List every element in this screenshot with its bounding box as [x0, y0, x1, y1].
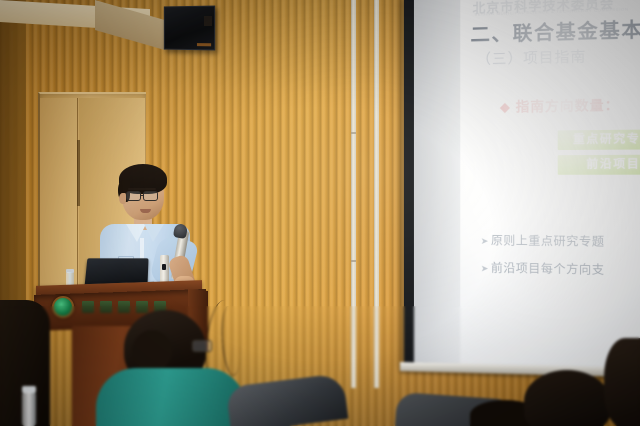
audience-member-teal: [96, 368, 246, 426]
slide-green-box: 前沿项目: [558, 155, 640, 175]
presenter-ear: [119, 193, 126, 204]
arrow-bullet-icon: ➤: [481, 263, 489, 273]
door-seam: [77, 140, 80, 206]
audience-hair-bun: [132, 330, 172, 372]
glasses-icon: [143, 191, 158, 201]
speaker-bracket: [204, 16, 212, 26]
slide-bullet-line: ➤前沿项目每个方向支: [481, 259, 605, 278]
inscription-glyph: [100, 301, 112, 313]
slide-bullet-text: 原则上重点研究专题: [491, 235, 605, 249]
conduit-joint: [351, 132, 356, 134]
microphone-switch[interactable]: [162, 264, 166, 270]
door-panel-left[interactable]: [40, 98, 78, 288]
institution-emblem-icon: [52, 296, 74, 318]
slide-green-box: 重点研究专题: [558, 129, 640, 150]
slide-bullet-line: ➤原则上重点研究专题: [481, 232, 605, 250]
screen-gutter: [414, 0, 460, 364]
inscription-glyph: [82, 301, 94, 313]
inscription-glyph: [118, 301, 130, 313]
audience-member-right-3: [604, 338, 640, 426]
arrow-bullet-icon: ➤: [481, 236, 489, 246]
diamond-bullet-icon: [500, 103, 510, 113]
glasses-bridge: [141, 195, 144, 196]
speaker-brand-mark: [197, 43, 211, 46]
slide-subtitle: （三）项目指南: [477, 46, 587, 69]
cable-conduit-strip: [351, 0, 356, 388]
projection-screen: 北京市科学技术委员会 BEIJING MUNICIPAL SCIENCE & T…: [404, 0, 640, 377]
glasses-icon: [126, 191, 141, 201]
slide-content: 北京市科学技术委员会 BEIJING MUNICIPAL SCIENCE & T…: [460, 0, 640, 371]
slide-bullet-text: 前沿项目每个方向支: [491, 262, 605, 276]
glasses-icon: [192, 340, 212, 352]
water-bottle-icon: [22, 392, 36, 426]
screen-surface: 北京市科学技术委员会 BEIJING MUNICIPAL SCIENCE & T…: [414, 0, 640, 371]
cable-conduit-strip: [374, 0, 379, 388]
audience-member-right-2: [524, 370, 610, 426]
presenter-brow: [128, 188, 156, 190]
presentation-photo: 北京市科学技术委员会 BEIJING MUNICIPAL SCIENCE & T…: [0, 0, 640, 426]
wall-speaker-icon: [164, 6, 215, 51]
slide-red-heading: 指南方向数量：: [501, 94, 619, 115]
conduit-joint: [351, 260, 356, 262]
slide-title: 二、联合基金基本情况: [470, 13, 640, 47]
slide-red-heading-text: 指南方向数量：: [516, 97, 620, 114]
inscription-glyph: [136, 301, 148, 313]
